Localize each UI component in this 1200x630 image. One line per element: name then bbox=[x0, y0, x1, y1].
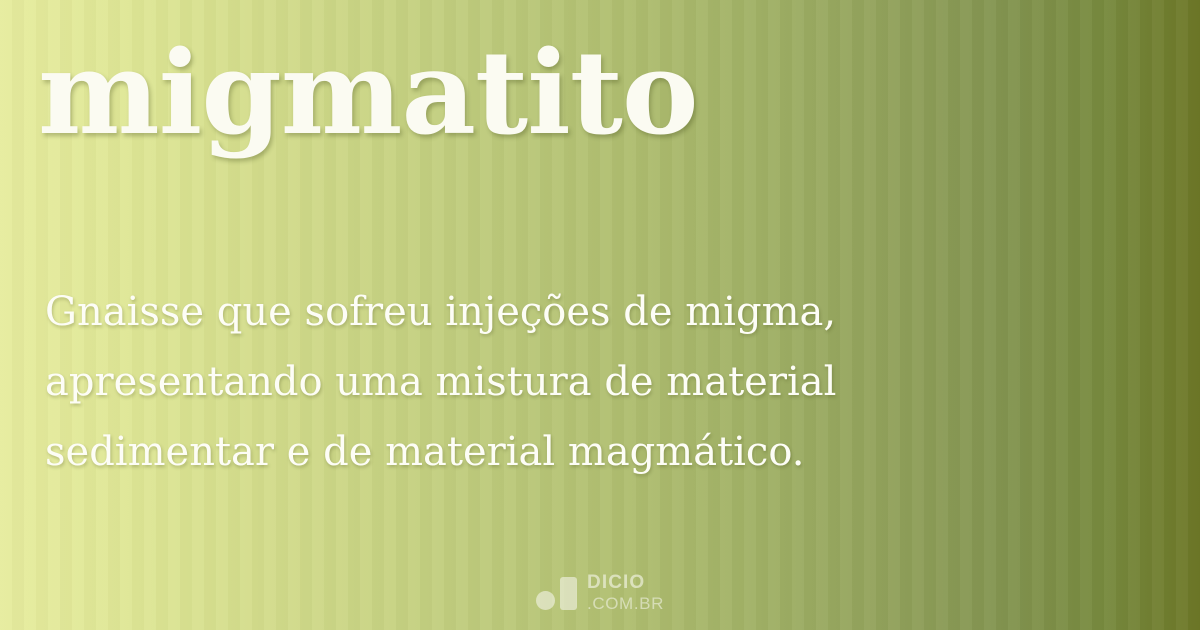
card-content: migmatito Gnaisse que sofreu injeções de… bbox=[0, 0, 1200, 630]
rounded-bar-icon bbox=[560, 577, 577, 610]
definition-card: migmatito Gnaisse que sofreu injeções de… bbox=[0, 0, 1200, 630]
dicio-logo: DICIO .COM.BR bbox=[0, 573, 1200, 612]
circle-icon bbox=[536, 591, 555, 610]
definition-text: Gnaisse que sofreu injeções de migma, ap… bbox=[45, 277, 1005, 487]
brand-tld: .COM.BR bbox=[587, 595, 664, 612]
logo-mark bbox=[536, 576, 577, 610]
page-title: migmatito bbox=[38, 34, 698, 155]
logo-wordmark: DICIO .COM.BR bbox=[587, 573, 664, 612]
brand-name: DICIO bbox=[587, 573, 664, 592]
